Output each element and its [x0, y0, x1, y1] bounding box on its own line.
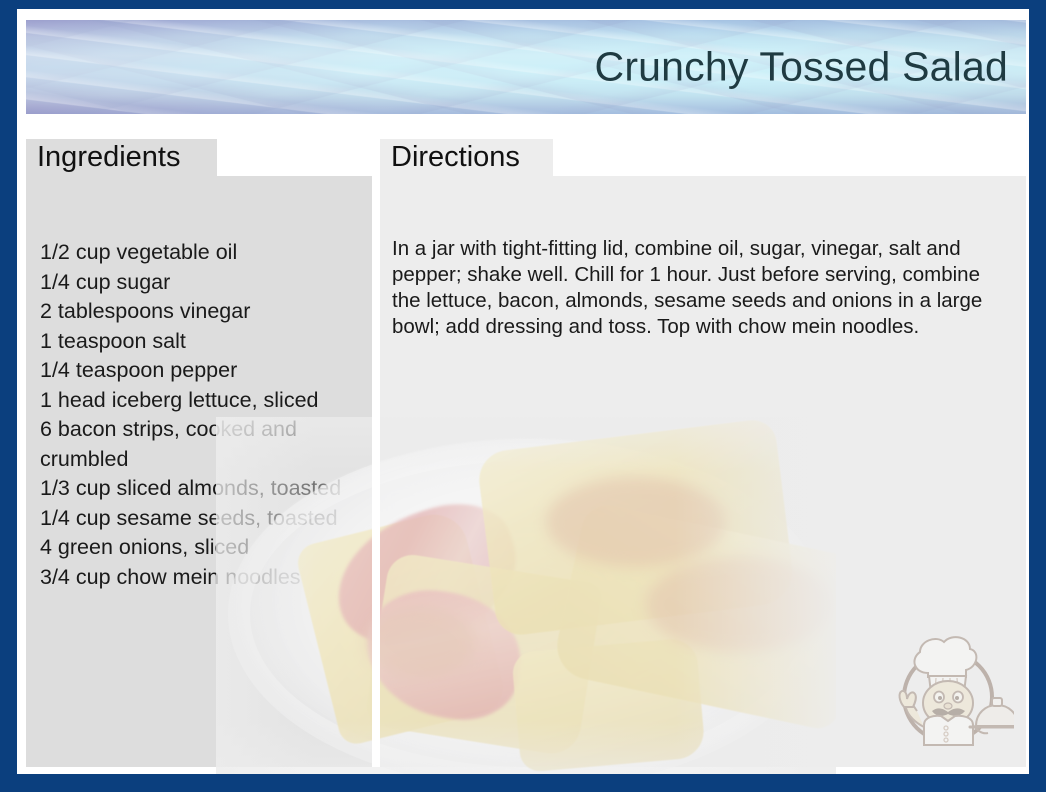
tab-gutter-left [217, 139, 380, 176]
panel-gutter [372, 139, 380, 767]
content-panels: 1/2 cup vegetable oil 1/4 cup sugar 2 ta… [26, 139, 1026, 767]
list-item: 1/4 cup sesame seeds, toasted [40, 504, 362, 534]
tab-ingredients[interactable]: Ingredients [26, 139, 217, 176]
slide-inner-canvas: Crunchy Tossed Salad 1/2 cup vegetable o… [17, 9, 1029, 774]
list-item: 1 teaspoon salt [40, 327, 362, 357]
list-item: 1/4 teaspoon pepper [40, 356, 362, 386]
list-item: 1/4 cup sugar [40, 268, 362, 298]
tab-gutter-right [553, 139, 1026, 176]
tab-directions[interactable]: Directions [380, 139, 553, 176]
page-title: Crunchy Tossed Salad [595, 44, 1008, 91]
list-item: 6 bacon strips, cooked and crumbled [40, 415, 362, 474]
list-item: 3/4 cup chow mein noodles [40, 563, 362, 593]
list-item: 1 head iceberg lettuce, sliced [40, 386, 362, 416]
recipe-slide: Crunchy Tossed Salad 1/2 cup vegetable o… [0, 0, 1046, 792]
directions-panel: In a jar with tight-fitting lid, combine… [380, 176, 1026, 767]
list-item: 4 green onions, sliced [40, 533, 362, 563]
list-item: 1/2 cup vegetable oil [40, 238, 362, 268]
ingredients-list: 1/2 cup vegetable oil 1/4 cup sugar 2 ta… [40, 238, 362, 592]
list-item: 1/3 cup sliced almonds, toasted [40, 474, 362, 504]
directions-text: In a jar with tight-fitting lid, combine… [392, 236, 1012, 340]
title-banner: Crunchy Tossed Salad [26, 20, 1026, 114]
list-item: 2 tablespoons vinegar [40, 297, 362, 327]
ingredients-panel: 1/2 cup vegetable oil 1/4 cup sugar 2 ta… [26, 176, 372, 767]
